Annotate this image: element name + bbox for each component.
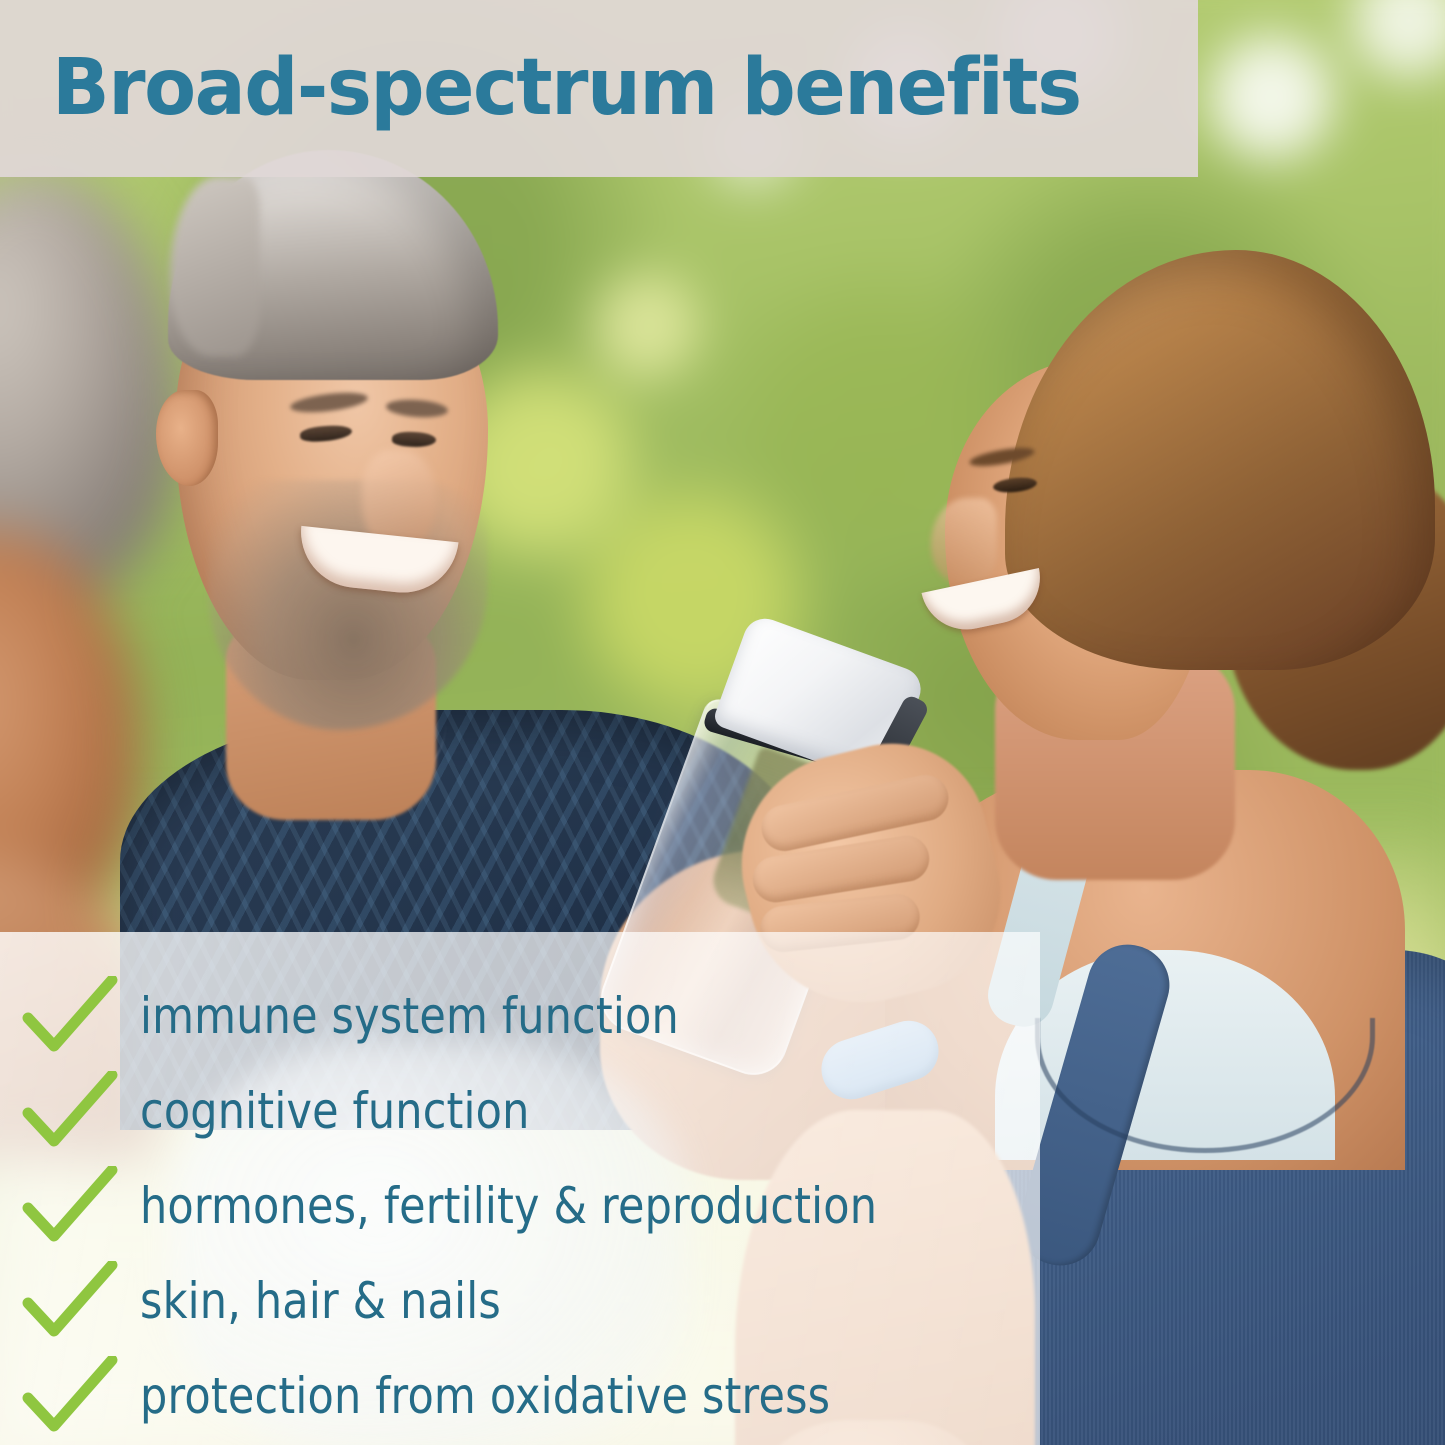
check-icon	[22, 1261, 118, 1341]
man-beard	[208, 480, 488, 730]
man-ear	[156, 390, 218, 486]
product-benefit-card: Broad-spectrum benefits immune system fu…	[0, 0, 1445, 1445]
benefit-label: cognitive function	[140, 1086, 530, 1136]
list-item: cognitive function	[0, 1063, 1040, 1158]
benefits-panel: immune system function cognitive functio…	[0, 932, 1040, 1445]
list-item: immune system function	[0, 968, 1040, 1063]
check-icon	[22, 976, 118, 1056]
title-banner: Broad-spectrum benefits	[0, 0, 1198, 177]
man-hair	[168, 150, 498, 380]
check-icon	[22, 1166, 118, 1246]
page-title: Broad-spectrum benefits	[52, 51, 1081, 125]
woman-nose	[931, 498, 997, 584]
benefit-label: skin, hair & nails	[140, 1276, 501, 1326]
list-item: skin, hair & nails	[0, 1253, 1040, 1348]
check-icon	[22, 1071, 118, 1151]
check-icon	[22, 1356, 118, 1436]
benefit-label: protection from oxidative stress	[140, 1371, 830, 1421]
list-item: protection from oxidative stress	[0, 1348, 1040, 1443]
woman-hair	[1005, 250, 1435, 670]
list-item: hormones, fertility & reproduction	[0, 1158, 1040, 1253]
benefit-label: immune system function	[140, 991, 679, 1041]
benefit-label: hormones, fertility & reproduction	[140, 1181, 877, 1231]
